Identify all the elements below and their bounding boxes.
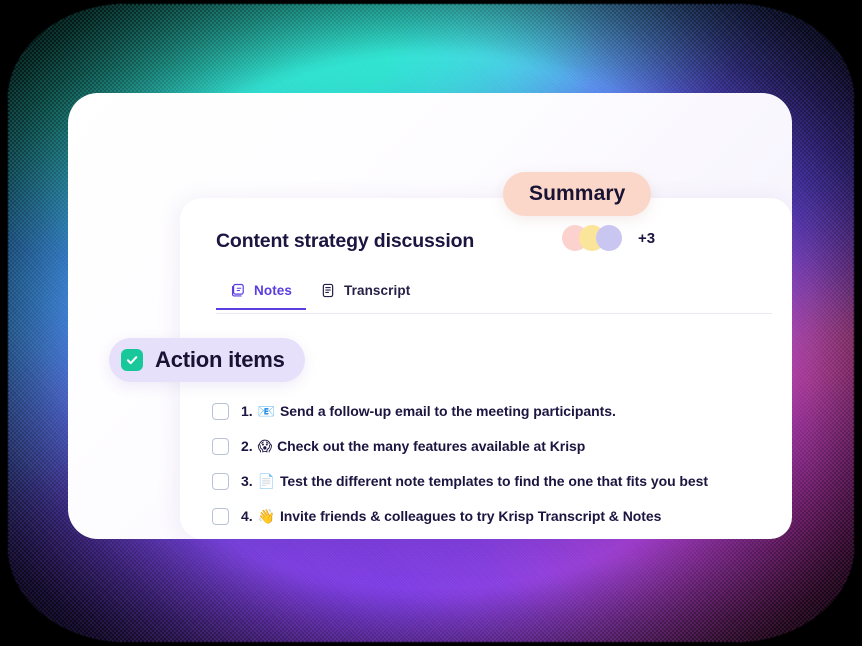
page-emoji: 📄 bbox=[258, 474, 275, 490]
page-title: Content strategy discussion bbox=[216, 230, 474, 253]
tab-notes[interactable]: Notes bbox=[216, 282, 306, 310]
list-item-text: 2. 😱 Check out the many features availab… bbox=[241, 438, 585, 455]
list-item-label: Invite friends & colleagues to try Krisp… bbox=[280, 508, 661, 524]
list-item-number: 2. bbox=[241, 438, 253, 454]
participants[interactable]: +3 bbox=[562, 225, 655, 251]
list-item-number: 3. bbox=[241, 473, 253, 489]
email-emoji: 📧 bbox=[258, 404, 275, 420]
tab-transcript[interactable]: Transcript bbox=[306, 282, 424, 308]
list-item-text: 3. 📄 Test the different note templates t… bbox=[241, 473, 708, 490]
waving-hand-emoji: 👋 bbox=[258, 509, 275, 525]
list-item[interactable]: 3. 📄 Test the different note templates t… bbox=[212, 464, 792, 499]
list-item-label: Send a follow-up email to the meeting pa… bbox=[280, 403, 616, 419]
tab-notes-label: Notes bbox=[254, 283, 292, 298]
action-items-list: 1. 📧 Send a follow-up email to the meeti… bbox=[212, 394, 792, 534]
list-item-text: 4. 👋 Invite friends & colleagues to try … bbox=[241, 508, 661, 525]
tab-transcript-label: Transcript bbox=[344, 283, 410, 298]
avatar-group[interactable] bbox=[562, 225, 622, 251]
action-items-badge[interactable]: Action items bbox=[109, 338, 305, 382]
document-list-icon bbox=[320, 282, 336, 299]
list-item-label: Check out the many features available at… bbox=[277, 438, 585, 454]
checkbox-unchecked[interactable] bbox=[212, 438, 229, 455]
avatar[interactable] bbox=[596, 225, 622, 251]
checkbox-unchecked[interactable] bbox=[212, 403, 229, 420]
screenshot-root: Summary Content strategy discussion +3 bbox=[0, 0, 862, 646]
screaming-face-emoji: 😱 bbox=[258, 439, 273, 455]
list-item-number: 1. bbox=[241, 403, 253, 419]
action-items-label: Action items bbox=[155, 347, 285, 373]
summary-badge-label: Summary bbox=[529, 182, 625, 206]
summary-badge[interactable]: Summary bbox=[503, 172, 651, 216]
list-item[interactable]: 2. 😱 Check out the many features availab… bbox=[212, 429, 792, 464]
tab-bar: Notes Transcript bbox=[216, 282, 772, 314]
list-item[interactable]: 1. 📧 Send a follow-up email to the meeti… bbox=[212, 394, 792, 429]
list-item-label: Test the different note templates to fin… bbox=[280, 473, 708, 489]
note-header: Content strategy discussion +3 bbox=[216, 226, 772, 256]
list-item-text: 1. 📧 Send a follow-up email to the meeti… bbox=[241, 403, 616, 420]
sticky-note-icon bbox=[230, 282, 246, 299]
participants-more-count: +3 bbox=[638, 230, 655, 247]
list-item-number: 4. bbox=[241, 508, 253, 524]
check-square-icon bbox=[121, 349, 143, 371]
checkbox-unchecked[interactable] bbox=[212, 473, 229, 490]
checkbox-unchecked[interactable] bbox=[212, 508, 229, 525]
list-item[interactable]: 4. 👋 Invite friends & colleagues to try … bbox=[212, 499, 792, 534]
